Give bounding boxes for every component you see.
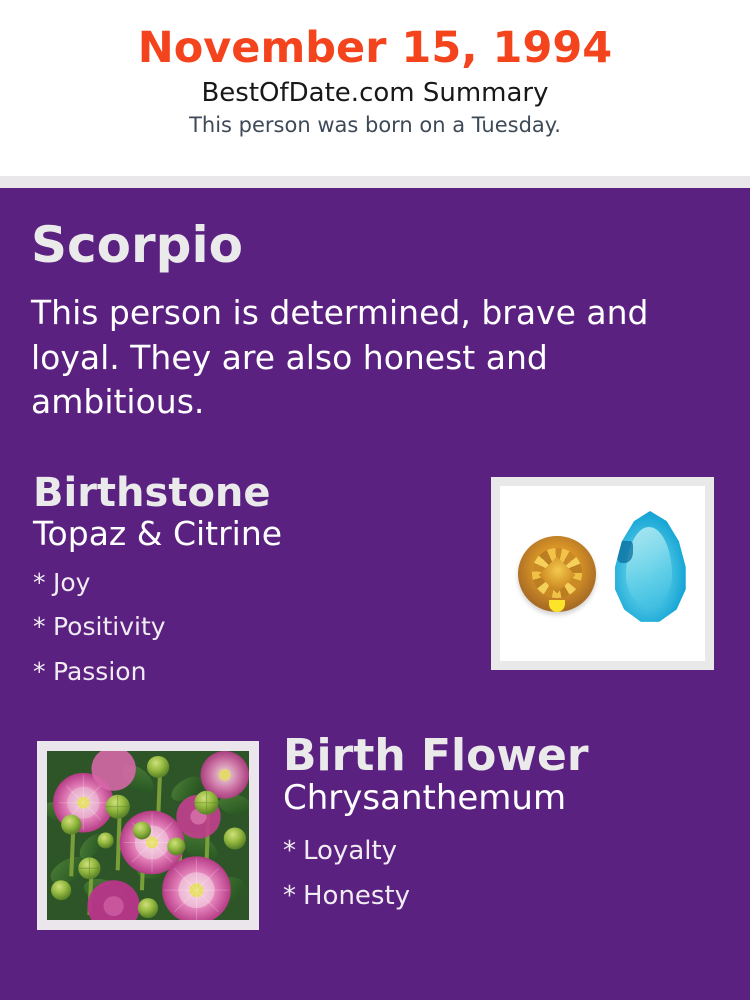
birth-flower-image-frame (37, 741, 259, 930)
list-item: *Joy (33, 561, 473, 606)
bullet-star-icon: * (33, 605, 53, 650)
birthstone-trait-label: Joy (53, 568, 90, 597)
bullet-star-icon: * (283, 829, 303, 874)
topaz-gem-icon (612, 511, 688, 623)
list-item: *Honesty (283, 874, 713, 919)
zodiac-description: This person is determined, brave and loy… (31, 291, 701, 425)
list-item: *Loyalty (283, 829, 713, 874)
site-subtitle: BestOfDate.com Summary (0, 71, 750, 108)
birth-flower-section: Birth Flower Chrysanthemum *Loyalty *Hon… (283, 733, 713, 919)
summary-card: November 15, 1994 BestOfDate.com Summary… (0, 0, 750, 1000)
zodiac-sign-title: Scorpio (31, 220, 243, 270)
bullet-star-icon: * (33, 561, 53, 606)
birth-flower-heading: Birth Flower (283, 733, 713, 779)
birthstone-trait-label: Positivity (53, 612, 166, 641)
birthstone-photo (500, 486, 705, 661)
birth-flower-photo (47, 751, 249, 920)
birth-weekday-note: This person was born on a Tuesday. (0, 108, 750, 137)
card-header: November 15, 1994 BestOfDate.com Summary… (0, 0, 750, 176)
birthstone-section: Birthstone Topaz & Citrine *Joy *Positiv… (33, 472, 473, 694)
list-item: *Passion (33, 650, 473, 695)
list-item: *Positivity (33, 605, 473, 650)
header-divider (0, 176, 750, 188)
birth-flower-trait-label: Loyalty (303, 836, 397, 866)
birth-flower-name: Chrysanthemum (283, 779, 713, 817)
bullet-star-icon: * (283, 874, 303, 919)
citrine-sparkle-icon (549, 600, 565, 612)
citrine-gem-icon (518, 536, 596, 612)
birth-flower-trait-label: Honesty (303, 881, 410, 911)
page-title: November 15, 1994 (0, 0, 750, 71)
birthstone-names: Topaz & Citrine (33, 514, 473, 553)
details-panel: Scorpio This person is determined, brave… (0, 188, 750, 1000)
birthstone-trait-label: Passion (53, 657, 146, 686)
bullet-star-icon: * (33, 650, 53, 695)
birthstone-heading: Birthstone (33, 472, 473, 514)
birthstone-trait-list: *Joy *Positivity *Passion (33, 553, 473, 695)
chrysanthemum-illustration-icon (47, 751, 249, 920)
birthstone-image-frame (491, 477, 714, 670)
birth-flower-trait-list: *Loyalty *Honesty (283, 817, 713, 919)
